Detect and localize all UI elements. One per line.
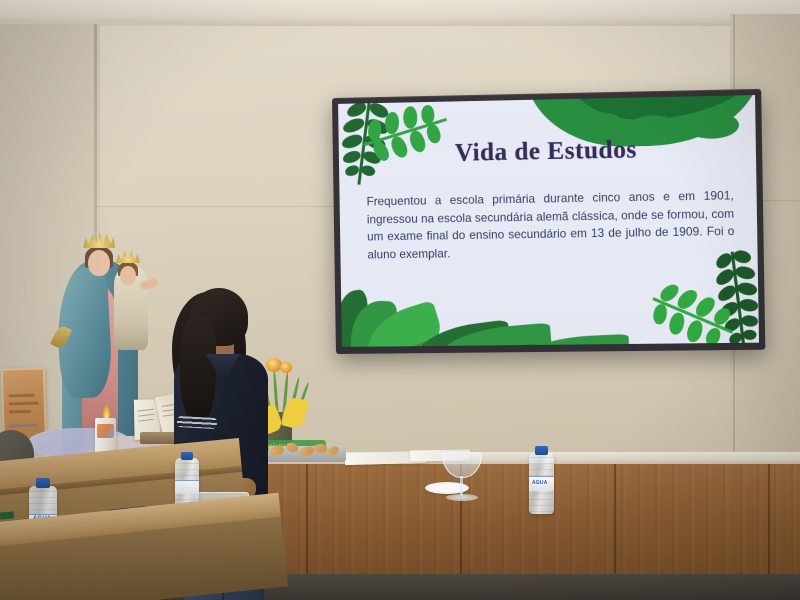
glass-foot bbox=[446, 494, 478, 501]
presenter-sleeve-stripe bbox=[177, 416, 218, 429]
crown-icon bbox=[116, 248, 140, 263]
presenter-hair-side bbox=[180, 316, 216, 426]
tv-screen: Vida de Estudos Frequentou a escola prim… bbox=[338, 95, 759, 347]
banner-text-line bbox=[9, 410, 31, 414]
cabinet-seam bbox=[768, 464, 770, 576]
slide-body-text: Frequentou a escola primária durante cin… bbox=[366, 187, 734, 263]
glass-stem bbox=[460, 476, 463, 496]
bottle-cap bbox=[36, 478, 50, 488]
cabinet-seam bbox=[306, 464, 308, 576]
bottle-cap bbox=[181, 452, 193, 460]
bottle-cap bbox=[535, 446, 548, 455]
photo-scene: Vida de Estudos Frequentou a escola prim… bbox=[0, 0, 800, 600]
crown-icon bbox=[83, 230, 115, 248]
glass-bowl bbox=[442, 452, 482, 478]
candle-artwork bbox=[97, 424, 114, 438]
statue-face bbox=[88, 250, 110, 276]
bottle-label-text: AGUA bbox=[532, 480, 548, 486]
wine-glass-inverted[interactable] bbox=[442, 452, 482, 502]
statue-child-face bbox=[120, 266, 136, 285]
flower bbox=[280, 362, 292, 373]
bottle-label bbox=[175, 480, 199, 494]
wall-mounted-tv[interactable]: Vida de Estudos Frequentou a escola prim… bbox=[332, 89, 765, 354]
cabinet-seam bbox=[614, 464, 616, 576]
small-object bbox=[0, 511, 14, 519]
